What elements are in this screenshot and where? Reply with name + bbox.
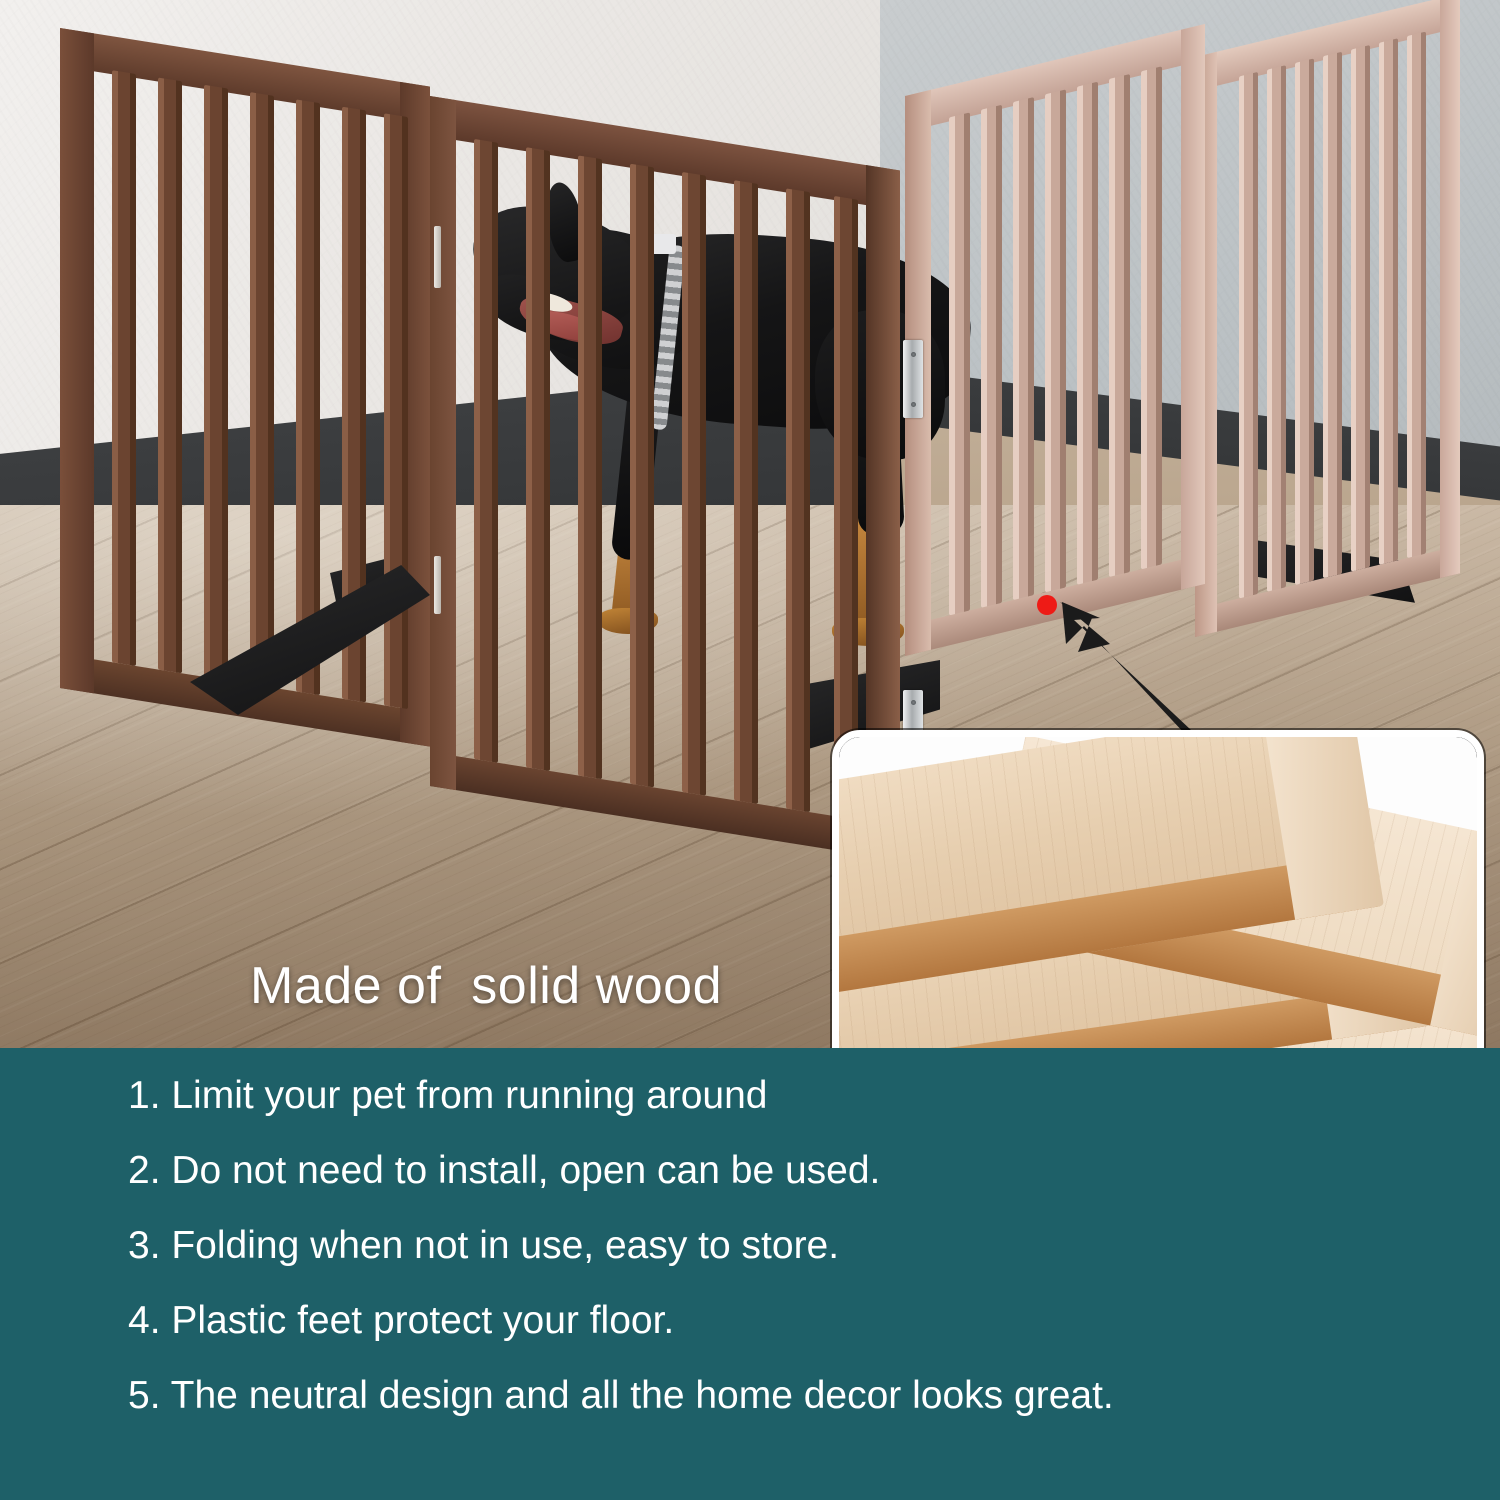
feature-item: 2. Do not need to install, open can be u…: [128, 1151, 1468, 1190]
gate-panel-4: [1195, 0, 1460, 637]
gate-panel-2: [430, 96, 900, 860]
photo-caption: Made of solid wood: [250, 956, 722, 1016]
gate-panel-3: [905, 24, 1205, 656]
feature-item: 3. Folding when not in use, easy to stor…: [128, 1226, 1468, 1265]
features-list: 1. Limit your pet from running around 2.…: [128, 1076, 1468, 1451]
feature-item: 4. Plastic feet protect your floor.: [128, 1301, 1468, 1340]
product-photo: Made of solid wood: [0, 0, 1500, 1048]
gate-fold-hinge-lower: [434, 556, 441, 614]
gate-fold-hinge-upper: [434, 226, 441, 288]
wood-closeup-inset: [832, 730, 1484, 1048]
callout-arrow-icon: [1040, 600, 1220, 750]
features-panel: 1. Limit your pet from running around 2.…: [0, 1048, 1500, 1500]
feature-item: 1. Limit your pet from running around: [128, 1076, 1468, 1115]
gate-panel-1: [60, 28, 430, 747]
feature-item: 5. The neutral design and all the home d…: [128, 1376, 1468, 1415]
product-infographic: Made of solid wood 1. Limit your pet fro…: [0, 0, 1500, 1500]
